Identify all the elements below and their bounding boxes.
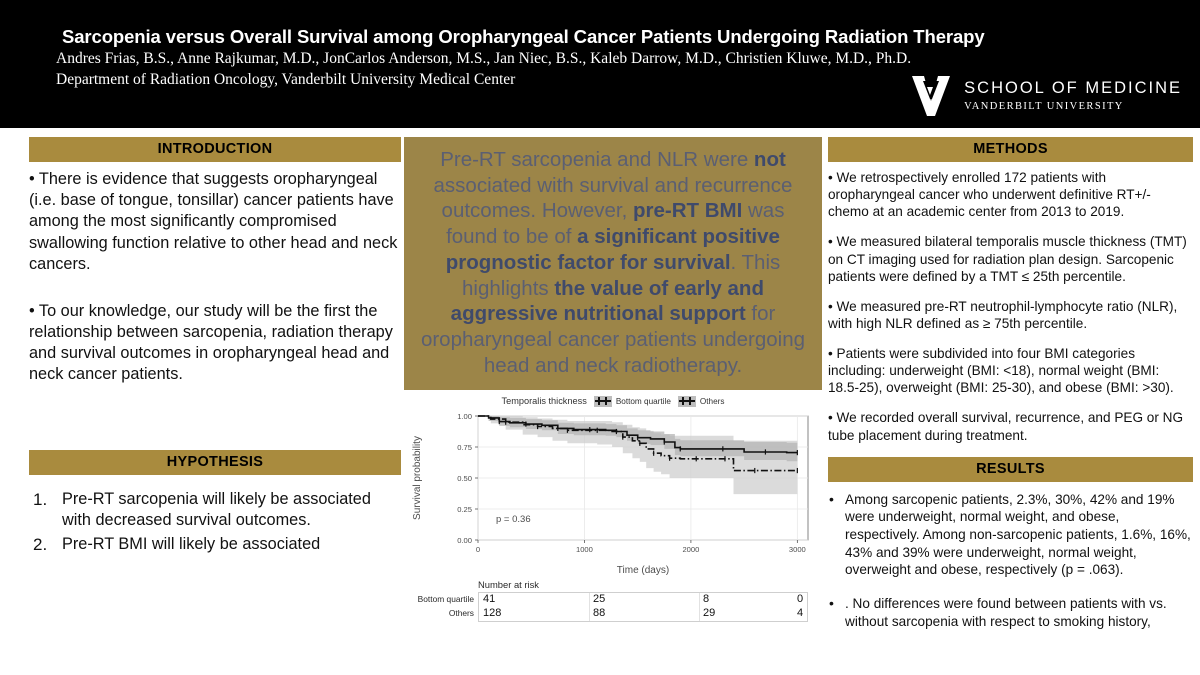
svg-text:1.00: 1.00 <box>457 412 472 421</box>
methods-bullet-2: • We measured bilateral temporalis muscl… <box>828 233 1193 284</box>
left-column-spacer <box>29 386 401 450</box>
section-header-introduction: INTRODUCTION <box>29 137 401 162</box>
results-bullet-1: Among sarcopenic patients, 2.3%, 30%, 42… <box>828 491 1193 579</box>
methods-body: • We retrospectively enrolled 172 patien… <box>828 169 1193 444</box>
vanderbilt-logo: SCHOOL OF MEDICINE VANDERBILT UNIVERSITY <box>910 73 1182 119</box>
poster-root: Sarcopenia versus Overall Survival among… <box>0 0 1200 675</box>
section-header-hypothesis: HYPOTHESIS <box>29 450 401 475</box>
page-title: Sarcopenia versus Overall Survival among… <box>62 26 1192 48</box>
svg-text:0.25: 0.25 <box>457 505 472 514</box>
legend-label: Bottom quartile <box>616 397 671 406</box>
svg-text:0.50: 0.50 <box>457 474 472 483</box>
chart-pvalue-annotation: p = 0.36 <box>496 514 531 525</box>
methods-bullet-3: • We measured pre-RT neutrophil-lymphocy… <box>828 298 1193 332</box>
methods-bullet-1: • We retrospectively enrolled 172 patien… <box>828 169 1193 220</box>
conclusion-seg-bold: not <box>754 148 786 171</box>
number-at-risk-title: Number at risk <box>478 579 822 590</box>
logo-university-line: VANDERBILT UNIVERSITY <box>964 101 1182 112</box>
affiliation-line: Department of Radiation Oncology, Vander… <box>56 71 1056 89</box>
risk-cell: 0 <box>797 593 803 605</box>
kaplan-meier-chart: Temporalis thickness Bottom quartile Oth… <box>404 390 822 622</box>
list-item: Pre-RT sarcopenia will likely be associa… <box>29 489 401 531</box>
conclusion-seg: Pre-RT sarcopenia and NLR were <box>440 148 754 171</box>
svg-text:0: 0 <box>476 545 480 554</box>
legend-swatch-icon <box>678 396 696 407</box>
table-row: Bottom quartile 41 25 8 0 <box>478 592 808 607</box>
legend-label: Others <box>700 397 725 406</box>
introduction-bullet-2: • To our knowledge, our study will be th… <box>29 301 401 386</box>
number-at-risk-table: Number at risk Bottom quartile 41 25 8 0… <box>404 579 822 622</box>
risk-row-label: Others <box>449 608 479 618</box>
introduction-body: • There is evidence that suggests oropha… <box>29 169 401 386</box>
chart-svg: 0.000.250.500.751.000100020003000 p = 0.… <box>404 410 822 578</box>
chart-legend: Temporalis thickness Bottom quartile Oth… <box>404 394 822 408</box>
risk-cell: 25 <box>593 593 605 605</box>
logo-school-line: SCHOOL OF MEDICINE <box>964 80 1182 97</box>
svg-text:0.75: 0.75 <box>457 443 472 452</box>
author-list: Andres Frias, B.S., Anne Rajkumar, M.D.,… <box>56 50 1056 68</box>
results-bullet-2: . No differences were found between pati… <box>828 595 1193 630</box>
chart-x-axis-label: Time (days) <box>617 565 669 576</box>
section-header-results: RESULTS <box>828 457 1193 482</box>
table-row: Others 128 88 29 4 <box>478 607 808 622</box>
legend-swatch-icon <box>594 396 612 407</box>
section-header-methods: METHODS <box>828 137 1193 162</box>
risk-cell: 41 <box>483 593 495 605</box>
right-column: METHODS • We retrospectively enrolled 17… <box>828 137 1193 630</box>
risk-cell: 128 <box>483 607 501 619</box>
legend-key-bottom-quartile: Bottom quartile <box>594 396 671 407</box>
results-body: Among sarcopenic patients, 2.3%, 30%, 42… <box>828 491 1193 631</box>
svg-text:2000: 2000 <box>682 545 699 554</box>
methods-bullet-5: • We recorded overall survival, recurren… <box>828 409 1193 443</box>
list-item: Pre-RT BMI will likely be associated <box>29 534 401 555</box>
left-column: INTRODUCTION • There is evidence that su… <box>29 137 401 558</box>
conclusion-panel: Pre-RT sarcopenia and NLR were not assoc… <box>404 137 822 390</box>
hypothesis-list: Pre-RT sarcopenia will likely be associa… <box>29 489 401 556</box>
methods-bullet-4: • Patients were subdivided into four BMI… <box>828 345 1193 396</box>
risk-cell: 8 <box>703 593 709 605</box>
vanderbilt-v-icon <box>910 73 952 119</box>
legend-title: Temporalis thickness <box>502 396 587 406</box>
risk-row-label: Bottom quartile <box>418 594 479 604</box>
risk-cell: 88 <box>593 607 605 619</box>
poster-header: Sarcopenia versus Overall Survival among… <box>0 0 1200 128</box>
svg-text:1000: 1000 <box>576 545 593 554</box>
svg-text:0.00: 0.00 <box>457 536 472 545</box>
legend-key-others: Others <box>678 396 725 407</box>
risk-cell: 4 <box>797 607 803 619</box>
center-column: Pre-RT sarcopenia and NLR were not assoc… <box>404 137 822 622</box>
introduction-bullet-1: • There is evidence that suggests oropha… <box>29 169 401 275</box>
conclusion-seg-bold: pre-RT BMI <box>633 199 742 222</box>
risk-cell: 29 <box>703 607 715 619</box>
chart-plot-area: 0.000.250.500.751.000100020003000 p = 0.… <box>404 410 822 578</box>
logo-wordmark: SCHOOL OF MEDICINE VANDERBILT UNIVERSITY <box>964 80 1182 112</box>
risk-table-body: Bottom quartile 41 25 8 0 Others 128 88 … <box>478 592 808 622</box>
right-column-spacer <box>828 444 1193 457</box>
chart-y-axis-label: Survival probability <box>412 437 423 521</box>
svg-text:3000: 3000 <box>789 545 806 554</box>
